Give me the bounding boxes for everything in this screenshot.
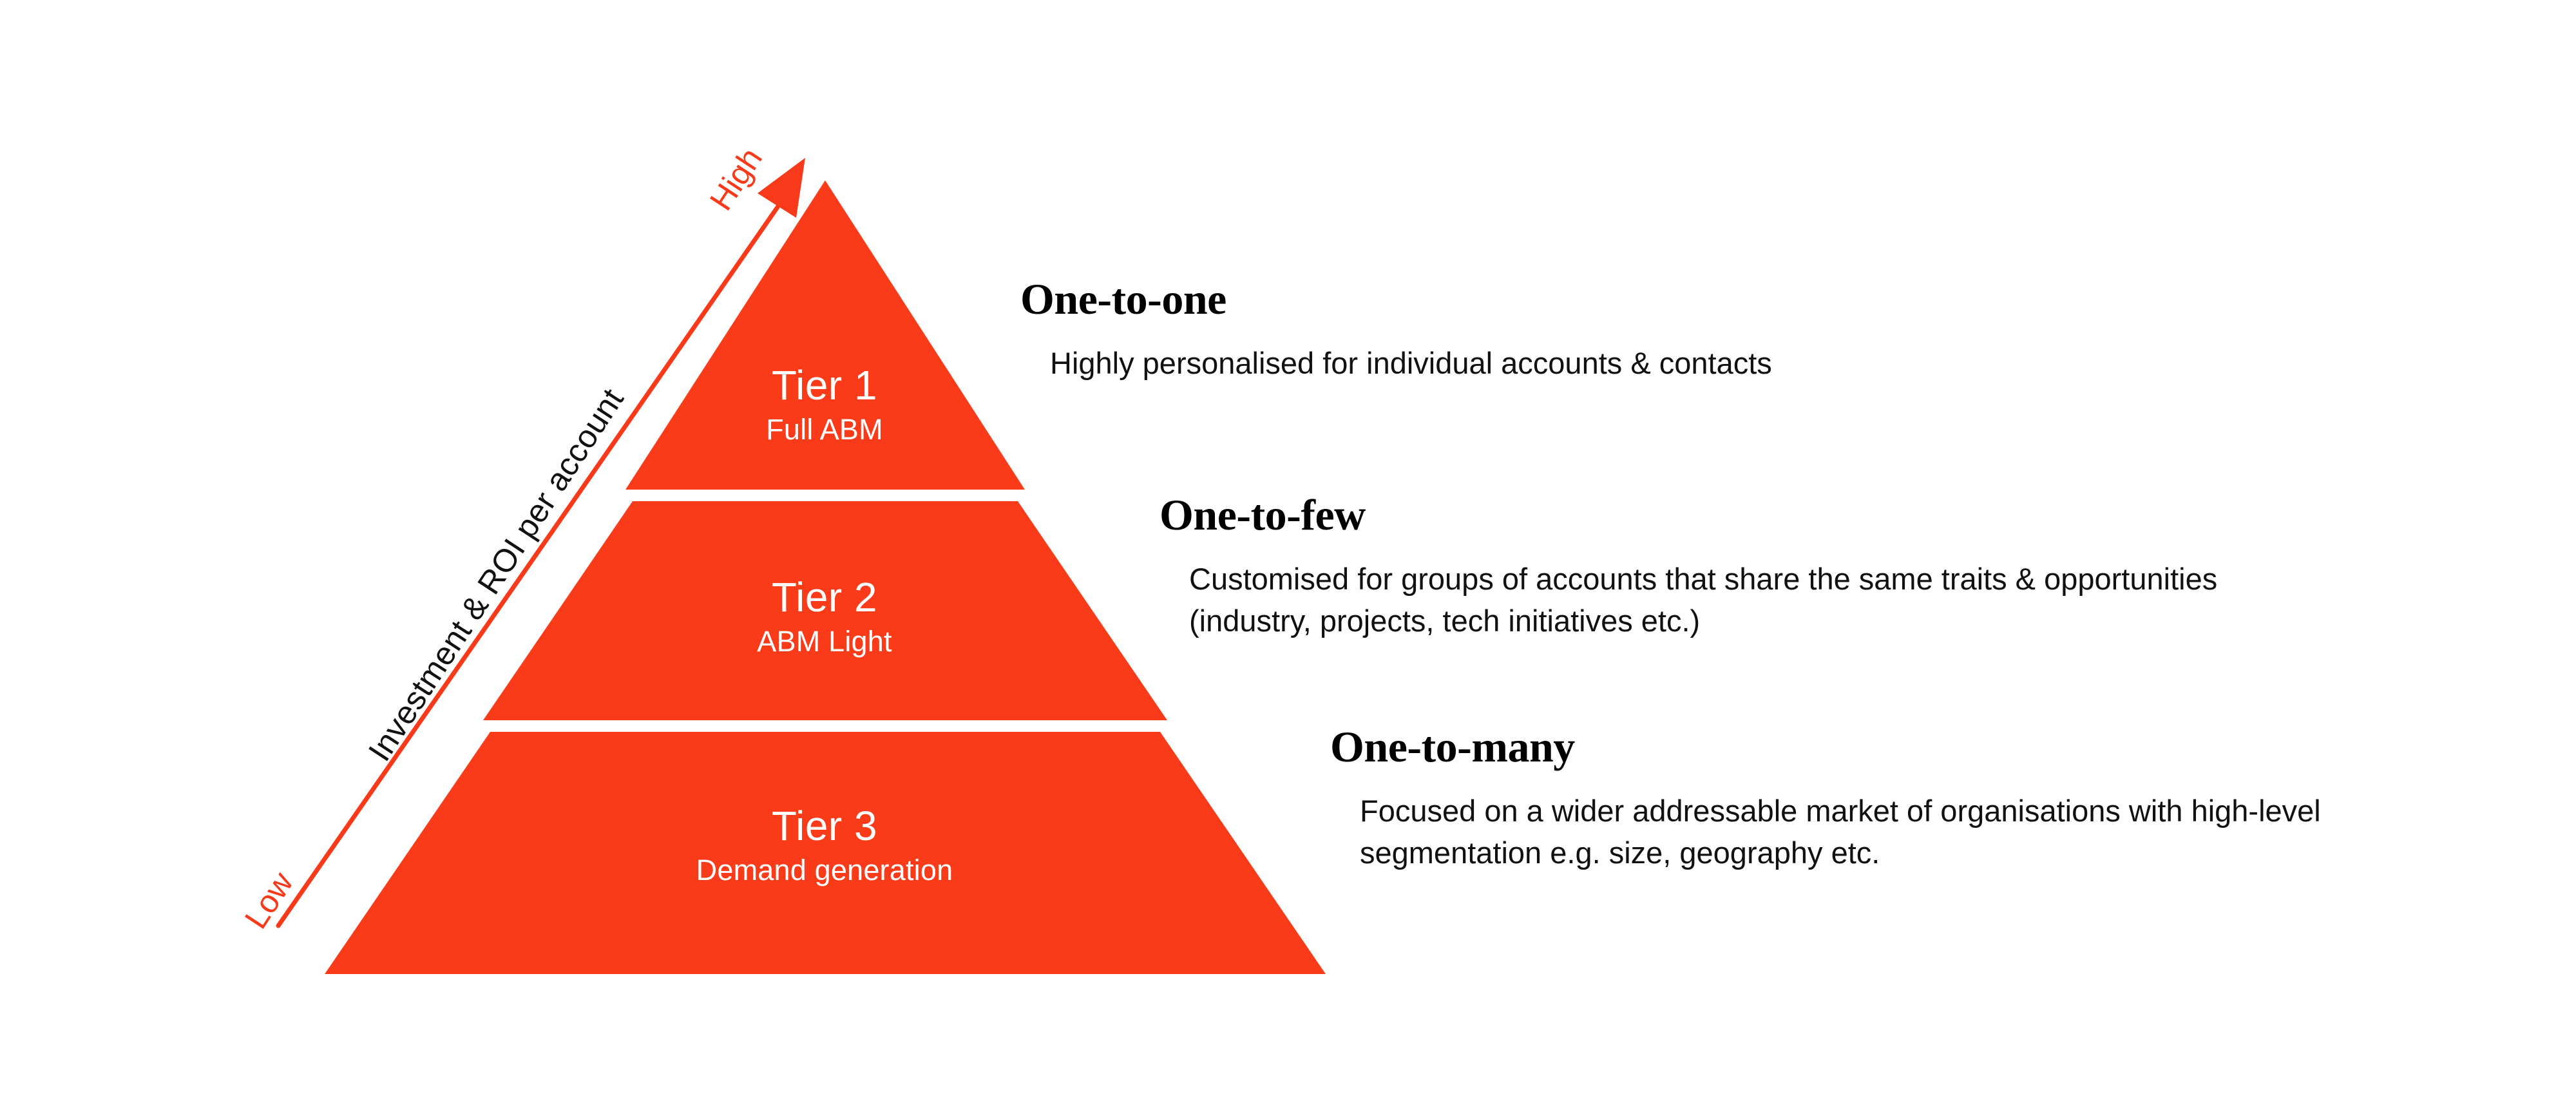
diagram-canvas: Investment & ROI per account Low High Ti…	[0, 0, 2576, 1116]
tier-1-title: Tier 1	[567, 365, 1082, 406]
description-block-one-to-few: One-to-few Customised for groups of acco…	[1159, 493, 2284, 642]
axis-high-label: High	[702, 141, 770, 217]
description-block-one-to-many: One-to-many Focused on a wider addressab…	[1330, 725, 2455, 874]
tier-1-subtitle: Full ABM	[567, 415, 1082, 444]
pyramid-tier-1-label: Tier 1 Full ABM	[567, 365, 1082, 444]
tier-2-subtitle: ABM Light	[567, 627, 1082, 656]
tier-3-subtitle: Demand generation	[567, 856, 1082, 885]
description-body-one-to-many: Focused on a wider addressable market of…	[1360, 790, 2455, 874]
description-body-one-to-one: Highly personalised for individual accou…	[1050, 343, 1772, 385]
tier-2-title: Tier 2	[567, 577, 1082, 618]
description-heading-one-to-one: One-to-one	[1020, 277, 1772, 321]
tier-3-title: Tier 3	[567, 805, 1082, 846]
description-body-one-to-few: Customised for groups of accounts that s…	[1189, 559, 2284, 642]
description-heading-one-to-few: One-to-few	[1159, 493, 2284, 537]
pyramid-tier-3-label: Tier 3 Demand generation	[567, 805, 1082, 885]
pyramid-tier-2-label: Tier 2 ABM Light	[567, 577, 1082, 656]
description-heading-one-to-many: One-to-many	[1330, 725, 2455, 769]
axis-low-label: Low	[237, 865, 301, 935]
description-block-one-to-one: One-to-one Highly personalised for indiv…	[1020, 277, 1772, 385]
